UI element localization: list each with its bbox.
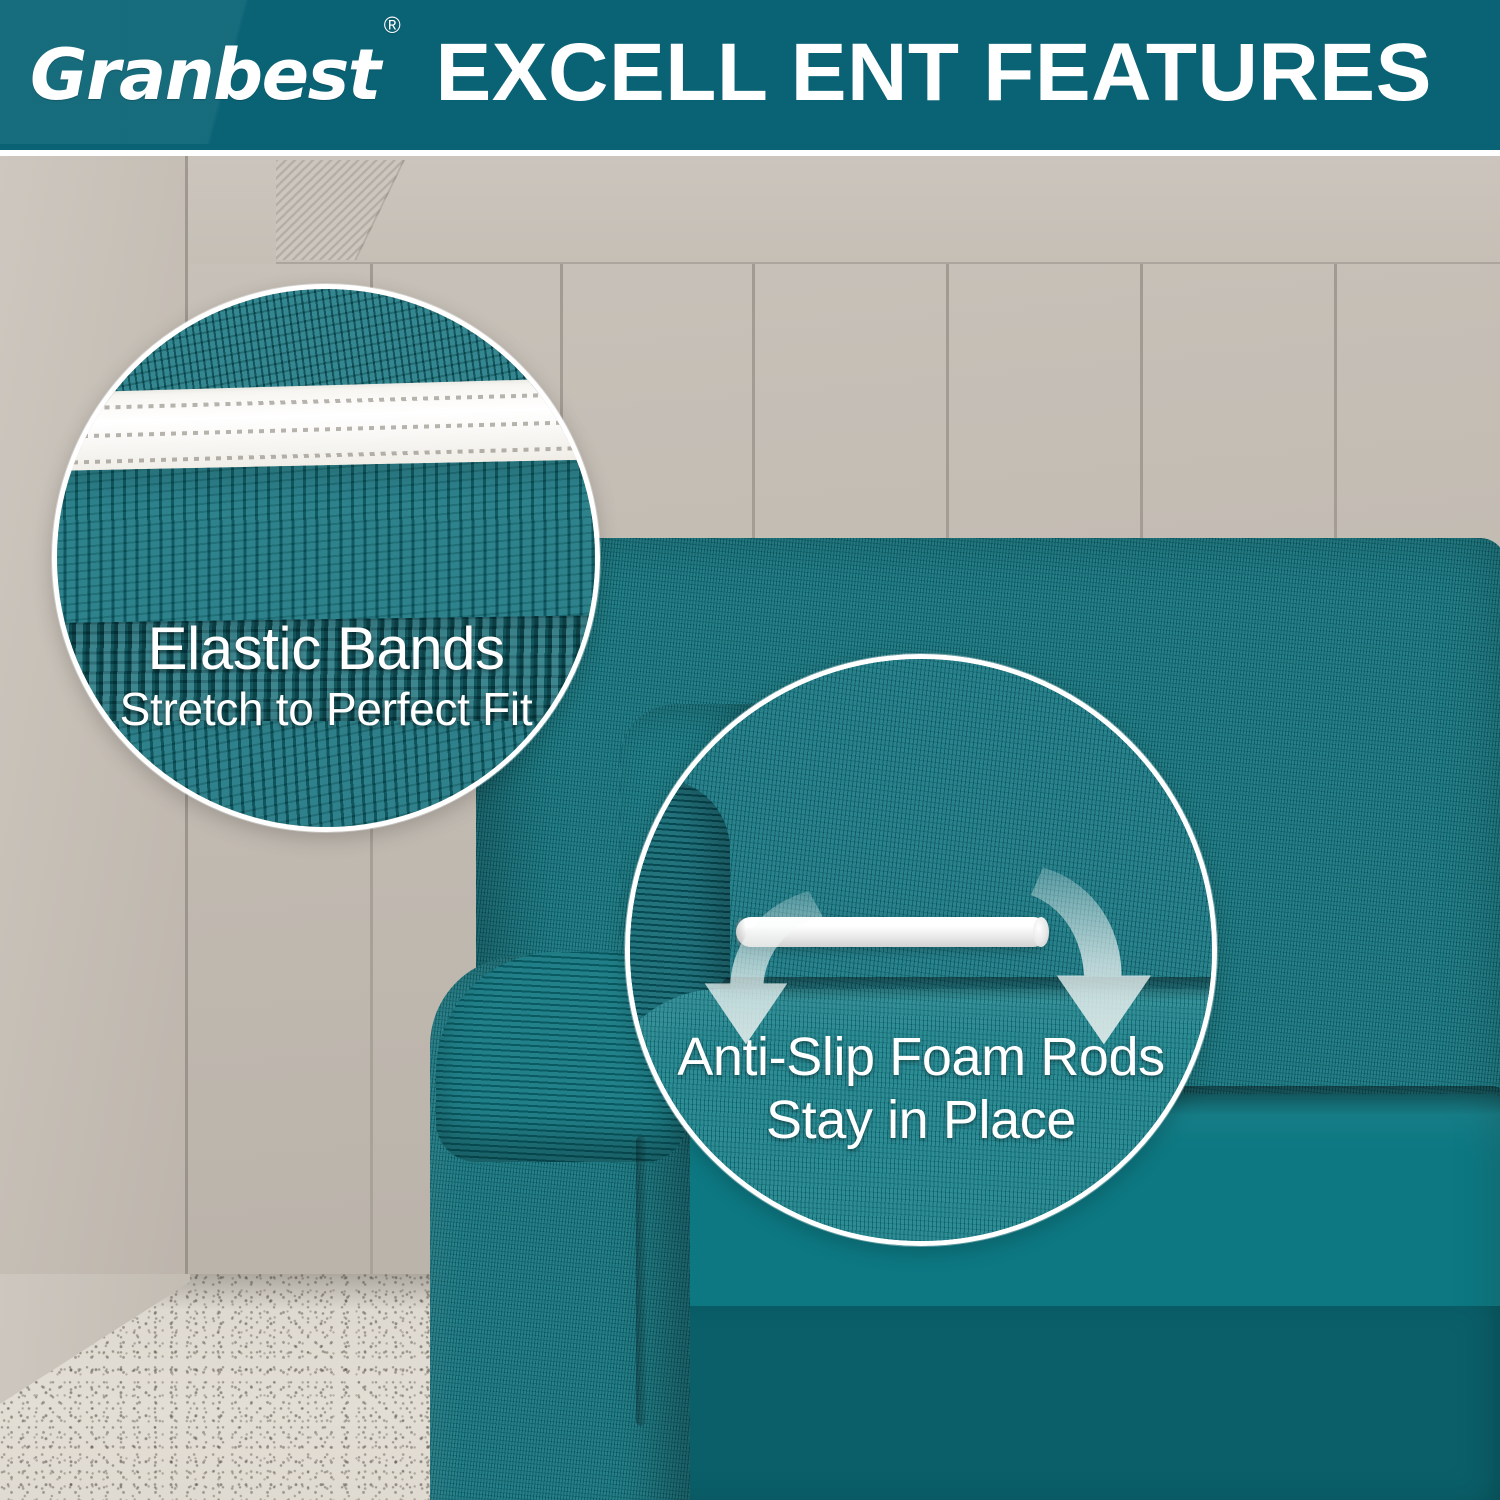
callout-foam-subline: Stay in Place — [630, 1092, 1212, 1149]
brand-name-text: Granbest® — [30, 40, 395, 110]
elastic-band-detail-photo — [57, 289, 595, 827]
callout-elastic-headline: Elastic Bands — [57, 617, 595, 681]
foam-rod-detail-photo — [630, 659, 1212, 1241]
brand-name-label: Granbest — [30, 34, 380, 116]
slipcover-fabric-bottom — [52, 721, 600, 832]
callout-elastic-subline: Stretch to Perfect Fit — [57, 685, 595, 734]
zoom-seat-crevice — [720, 977, 1217, 1001]
callout-foam-text: Anti-Slip Foam Rods Stay in Place — [630, 1029, 1212, 1149]
product-feature-image: Granbest® EXCELL ENT FEATURES — [0, 0, 1500, 1500]
band-stitch-line — [52, 418, 600, 440]
callout-anti-slip-foam-rods[interactable]: Anti-Slip Foam Rods Stay in Place — [625, 654, 1217, 1246]
banner-title: EXCELL ENT FEATURES — [389, 32, 1500, 118]
band-stitch-line — [52, 390, 600, 412]
callout-elastic-bands[interactable]: Elastic Bands Stretch to Perfect Fit — [52, 284, 600, 832]
foam-rod — [736, 917, 1048, 947]
brand-logo: Granbest® — [0, 0, 400, 150]
callout-foam-headline: Anti-Slip Foam Rods — [630, 1029, 1212, 1086]
room-scene: Elastic Bands Stretch to Perfect Fit — [0, 156, 1500, 1500]
callout-elastic-text: Elastic Bands Stretch to Perfect Fit — [57, 617, 595, 733]
header-banner: Granbest® EXCELL ENT FEATURES — [0, 0, 1500, 150]
